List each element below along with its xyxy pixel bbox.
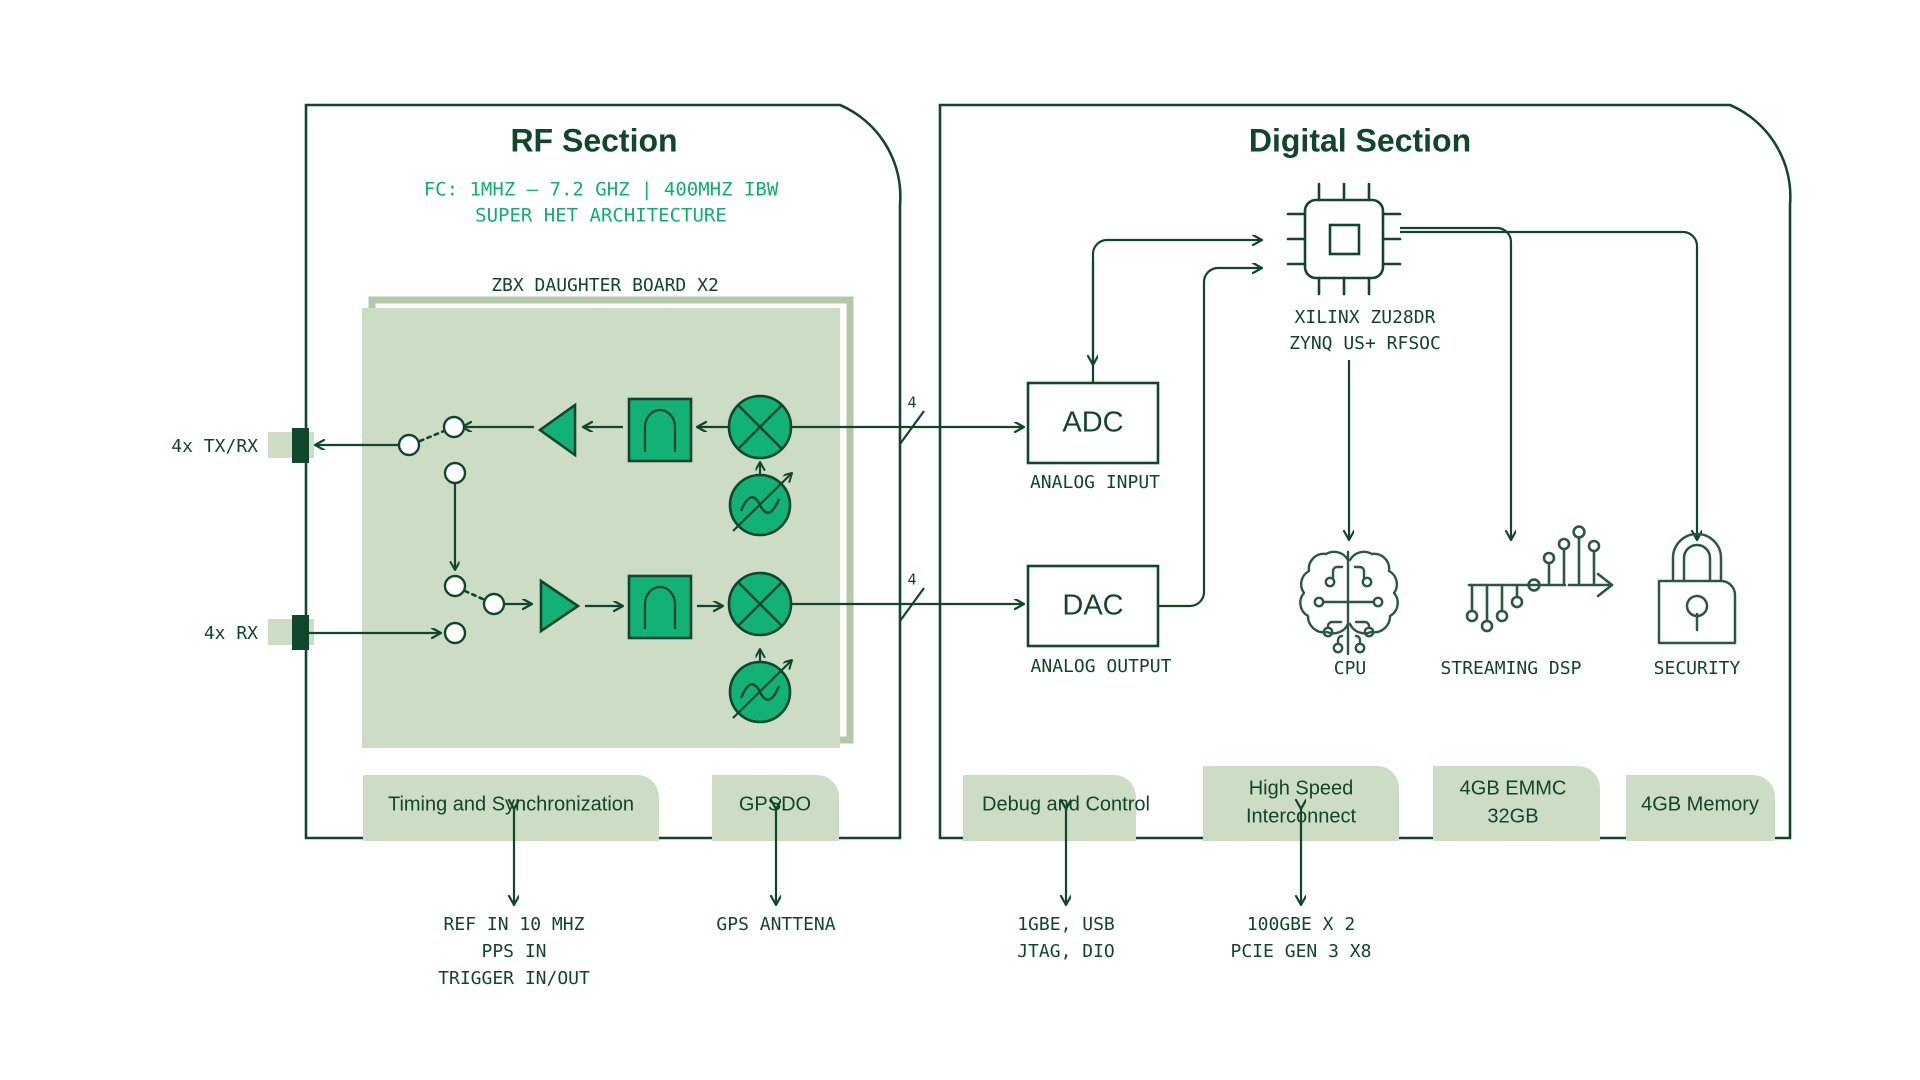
wire-adc-to-soc: [1093, 240, 1262, 383]
dac-caption: ANALOG OUTPUT: [1031, 656, 1172, 677]
dac-title: DAC: [1062, 590, 1123, 622]
port-rx-label: 4x RX: [204, 623, 258, 644]
debug-control-io-line-1: 1GBE, USB: [1017, 914, 1115, 935]
rx-switch-node-upper[interactable]: [445, 576, 465, 596]
zbx-board-label: ZBX DAUGHTER BOARD X2: [491, 275, 719, 296]
cpu-label: CPU: [1334, 658, 1367, 679]
adc-caption: ANALOG INPUT: [1030, 472, 1160, 493]
digital-section-title: Digital Section: [1249, 122, 1471, 158]
bus-dac-width-label: 4: [907, 571, 916, 589]
adc-title: ADC: [1062, 407, 1123, 439]
security-label: SECURITY: [1654, 658, 1741, 679]
high-speed-interconnect-label-line-1: High Speed: [1249, 777, 1354, 799]
rf-section-title: RF Section: [510, 122, 677, 158]
port-tx-rx-label: 4x TX/RX: [171, 436, 258, 457]
chip-icon: [1288, 184, 1400, 294]
padlock-icon: [1659, 534, 1735, 643]
tx-switch-node-upper[interactable]: [444, 417, 464, 437]
gpsdo-io-line-1: GPS ANTTENA: [716, 914, 835, 935]
timing-sync-label: Timing and Synchronization: [388, 793, 634, 815]
tx-bandpass-filter: [629, 399, 691, 461]
timing-sync-io-line-2: PPS IN: [481, 941, 546, 962]
rf-subtitle-line-2: SUPER HET ARCHITECTURE: [475, 205, 727, 227]
emmc-label-line-2: 32GB: [1487, 805, 1538, 827]
timing-sync-io-line-1: REF IN 10 MHZ: [444, 914, 585, 935]
soc-name-line-2: ZYNQ US+ RFSOC: [1289, 333, 1441, 354]
wire-dac-to-soc: [1158, 268, 1262, 606]
rx-switch-node-common[interactable]: [484, 594, 504, 614]
dsp-label: STREAMING DSP: [1441, 658, 1582, 679]
soc-name-line-1: XILINX ZU28DR: [1295, 307, 1436, 328]
block-diagram: RF Section FC: 1MHZ — 7.2 GHZ | 400MHZ I…: [0, 0, 1920, 1080]
wire-soc-to-dsp: [1400, 228, 1511, 540]
tx-switch-node-common[interactable]: [399, 435, 419, 455]
memory-label: 4GB Memory: [1641, 793, 1759, 815]
rf-subtitle-line-1: FC: 1MHZ — 7.2 GHZ | 400MHZ IBW: [424, 179, 779, 201]
port-tx-rx-connector[interactable]: [292, 428, 309, 463]
rx-switch-node-port[interactable]: [445, 623, 465, 643]
port-rx-connector[interactable]: [292, 615, 309, 650]
brain-circuit-icon: [1300, 552, 1397, 654]
wire-soc-to-security: [1400, 232, 1697, 540]
tx-switch-node-branch[interactable]: [445, 463, 465, 483]
dsp-stem-plot-icon: [1467, 527, 1612, 631]
rx-bandpass-filter: [629, 576, 691, 638]
bus-adc-width-label: 4: [907, 394, 916, 412]
debug-control-io-line-2: JTAG, DIO: [1017, 941, 1115, 962]
high-speed-io-line-1: 100GBE X 2: [1247, 914, 1355, 935]
diagram-canvas: RF Section FC: 1MHZ — 7.2 GHZ | 400MHZ I…: [0, 0, 1920, 1080]
timing-sync-io-line-3: TRIGGER IN/OUT: [438, 968, 590, 989]
high-speed-io-line-2: PCIE GEN 3 X8: [1231, 941, 1372, 962]
emmc-label-line-1: 4GB EMMC: [1460, 777, 1567, 799]
